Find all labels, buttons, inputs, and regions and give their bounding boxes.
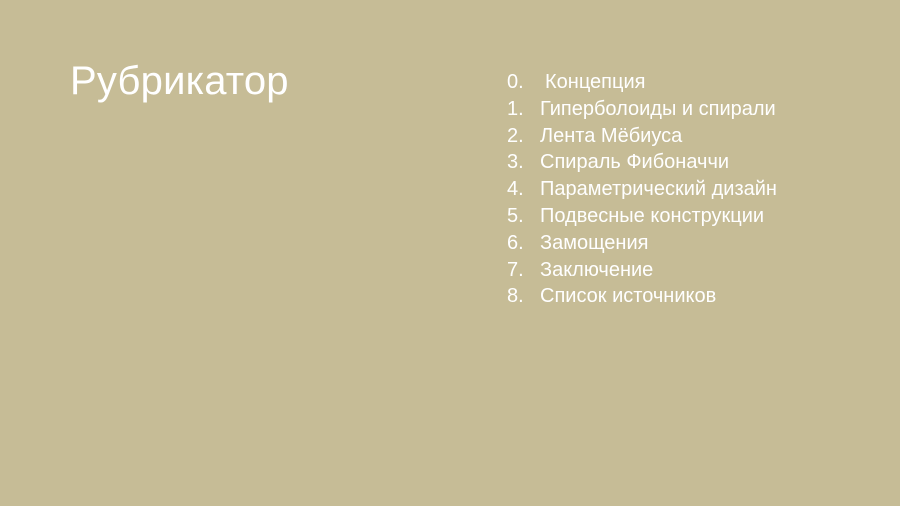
list-item-label: Лента Мёбиуса [540,123,682,150]
list-item-number: 8. [507,283,533,310]
list-item[interactable]: 3. Спираль Фибоначчи [507,149,867,176]
list-item-number: 4. [507,176,533,203]
list-item[interactable]: 0. Концепция [507,69,867,96]
list-item-number: 6. [507,230,533,257]
table-of-contents: 0. Концепция 1. Гиперболоиды и спирали 2… [507,69,867,310]
list-item[interactable]: 7. Заключение [507,257,867,284]
list-item-label: Заключение [540,257,653,284]
list-item[interactable]: 6. Замощения [507,230,867,257]
list-item-number: 3. [507,149,533,176]
list-item-number: 7. [507,257,533,284]
list-item-label: Подвесные конструкции [540,203,764,230]
list-item-label: Список источников [540,283,716,310]
list-item-label: Концепция [545,69,645,96]
list-item-label: Гиперболоиды и спирали [540,96,776,123]
list-item[interactable]: 5. Подвесные конструкции [507,203,867,230]
list-item-number: 2. [507,123,533,150]
list-item[interactable]: 4. Параметрический дизайн [507,176,867,203]
list-item-label: Замощения [540,230,648,257]
presentation-slide: Рубрикатор 0. Концепция 1. Гиперболоиды … [0,0,900,506]
list-item-number: 0. [507,69,533,96]
list-item[interactable]: 2. Лента Мёбиуса [507,123,867,150]
list-item-number: 1. [507,96,533,123]
page-title: Рубрикатор [70,57,289,106]
list-item-number: 5. [507,203,533,230]
list-item[interactable]: 1. Гиперболоиды и спирали [507,96,867,123]
list-item-label: Спираль Фибоначчи [540,149,729,176]
list-item-label: Параметрический дизайн [540,176,777,203]
list-item[interactable]: 8. Список источников [507,283,867,310]
